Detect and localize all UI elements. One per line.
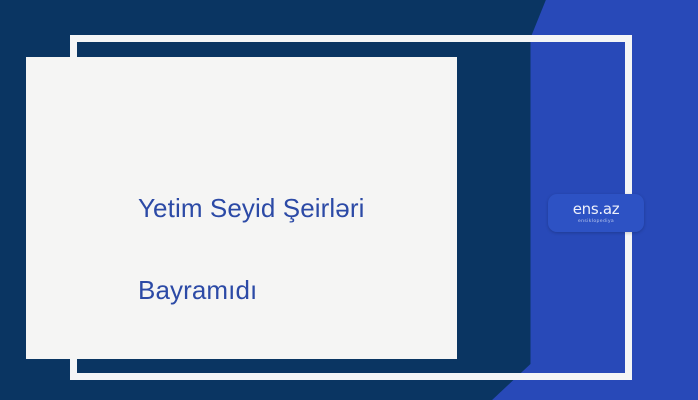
poem-title: Yetim Seyid Şeirləri [138, 191, 468, 225]
ensaz-tagline: ensiklopediya [578, 217, 614, 225]
poem-subtitle: Bayramıdı [138, 225, 468, 307]
thumbnail-card: Yetim Seyid Şeirləri Bayramıdı ens.az en… [0, 0, 698, 400]
ensaz-wordmark: ens.az [573, 202, 620, 217]
ensaz-logo-badge[interactable]: ens.az ensiklopediya [548, 194, 644, 232]
content-card: Yetim Seyid Şeirləri Bayramıdı [26, 57, 457, 359]
text-block: Yetim Seyid Şeirləri Bayramıdı [138, 191, 468, 308]
